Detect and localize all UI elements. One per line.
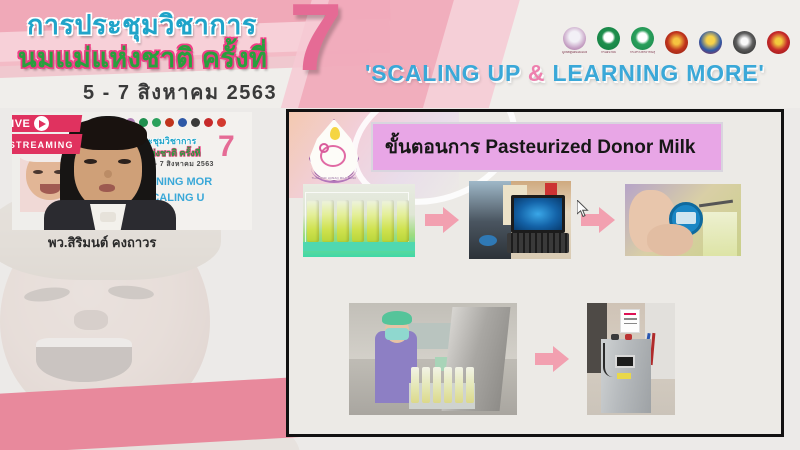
human-milk-bank-drop-icon: THAILAND HUMAN MILK BANK — [303, 117, 365, 189]
thai-breastfeeding-centre-logo: มูลนิธิศูนย์นมแม่แห่งประเทศไทย — [562, 27, 587, 54]
photo-milk-bottle-racks — [303, 184, 415, 257]
conference-slogan: 'SCALING UP & LEARNING MORE' — [365, 60, 765, 87]
slide-title-banner: ขั้นตอนการ Pasteurized Donor Milk — [371, 122, 723, 172]
play-icon — [34, 116, 49, 131]
logo-mark — [733, 31, 756, 54]
slogan-part2: LEARNING MORE' — [545, 60, 764, 86]
process-arrow-icon — [535, 346, 569, 372]
drop-logo-caption: THAILAND HUMAN MILK BANK — [303, 177, 365, 180]
red-crest-logo — [766, 31, 791, 54]
conference-title-line2: นมแม่แห่งชาติ ครั้งที่ — [18, 36, 267, 79]
live-badge-top: LIVE — [12, 115, 82, 132]
logo-mark — [767, 31, 790, 54]
logo-mark — [699, 31, 722, 54]
photo-nurse-laminar-hood — [349, 303, 517, 415]
logo-caption: กรมอนามัย — [596, 51, 621, 54]
speaker-eye-left — [84, 159, 97, 164]
sponsor-logo-row: มูลนิธิศูนย์นมแม่แห่งประเทศไทย กรมอนามัย… — [562, 27, 800, 54]
process-step-row-bottom — [349, 303, 675, 415]
presentation-slide-panel: THAILAND HUMAN MILK BANK ขั้นตอนการ Past… — [286, 109, 784, 437]
slogan-part1: 'SCALING UP — [365, 60, 528, 86]
logo-caption: มูลนิธิศูนย์นมแม่แห่งประเทศไทย — [562, 51, 587, 54]
live-streaming-badge: LIVE STREAMING — [12, 115, 81, 154]
conference-date: 5 - 7 สิงหาคม 2563 — [83, 76, 277, 108]
logo-caption: กระทรวงสาธารณสุข — [630, 51, 655, 54]
speaker-nose — [104, 170, 112, 178]
conference-edition-number: 7 — [289, 0, 342, 86]
speaker-bow — [100, 212, 116, 222]
mouse-pointer — [577, 200, 589, 218]
royal-college-logo — [664, 31, 689, 54]
live-speaker-video[interactable]: การประชุมวิชาการ นมแม่แห่งชาติ ครั้งที่ … — [12, 112, 252, 230]
speaker-name-caption: พว.สิริมนต์ คงถาวร — [48, 232, 156, 253]
process-arrow-icon — [425, 207, 459, 233]
garuda-emblem-logo — [732, 31, 757, 54]
logo-mark — [631, 27, 654, 50]
live-badge-bottom: STREAMING — [12, 134, 82, 154]
process-step-row-top — [303, 181, 741, 259]
screen-root: การประชุมวิชาการ นมแม่แห่งชาติ ครั้งที่ … — [0, 0, 800, 450]
conference-banner: การประชุมวิชาการ นมแม่แห่งชาติ ครั้งที่ … — [0, 0, 800, 108]
speaker-eye-right — [118, 159, 131, 164]
poster-date: 5 - 7 สิงหาคม 2563 — [148, 159, 214, 170]
slide-title-text: ขั้นตอนการ Pasteurized Donor Milk — [385, 132, 695, 162]
photo-pasteurizer-machine — [587, 303, 675, 415]
ministry-public-health-logo: กรมอนามัย — [596, 27, 621, 54]
poster-edition-number: 7 — [218, 132, 235, 162]
photo-laptop-record-desk — [469, 181, 571, 259]
logo-mark — [665, 31, 688, 54]
university-emblem-logo — [698, 31, 723, 54]
department-health-logo: กระทรวงสาธารณสุข — [630, 27, 655, 54]
live-label: LIVE — [12, 118, 30, 130]
logo-mark — [597, 27, 620, 50]
speaker-mouth — [99, 184, 115, 192]
slogan-ampersand: & — [528, 60, 545, 86]
photo-thermometer-check — [625, 184, 741, 256]
streaming-label: STREAMING — [12, 140, 74, 150]
logo-mark — [563, 27, 586, 50]
